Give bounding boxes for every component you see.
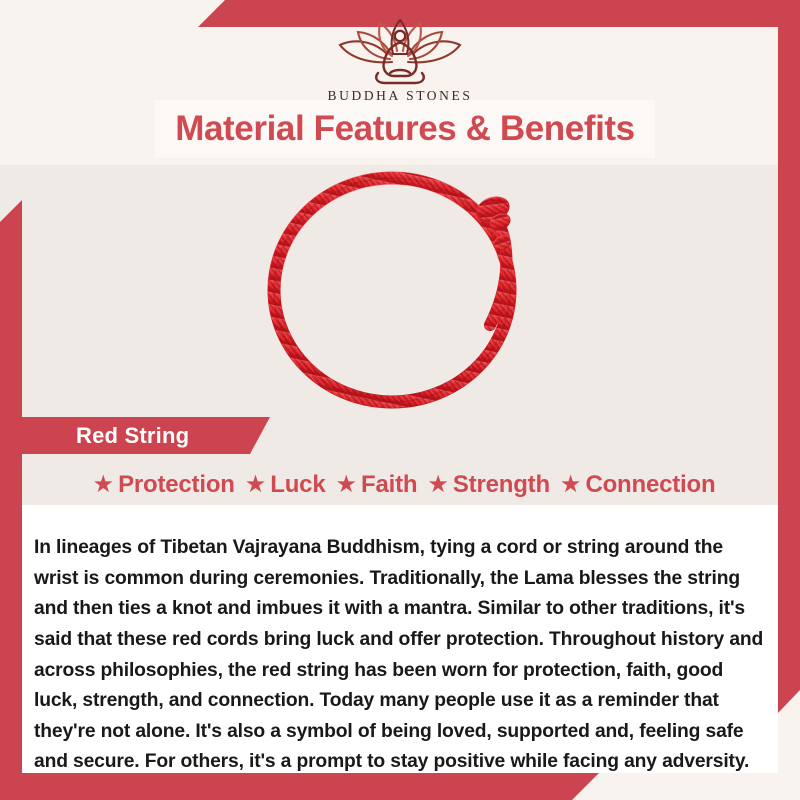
product-image-stage: [0, 165, 800, 415]
material-name-label: Red String: [76, 423, 189, 449]
star-icon: ★: [93, 473, 115, 497]
description-panel: In lineages of Tibetan Vajrayana Buddhis…: [22, 505, 778, 773]
feature-label: Luck: [270, 471, 325, 499]
star-icon: ★: [427, 473, 449, 497]
feature-label: Connection: [585, 471, 715, 499]
description-paragraph: In lineages of Tibetan Vajrayana Buddhis…: [34, 533, 764, 778]
material-name-ribbon: Red String: [20, 417, 270, 454]
feature-label: Protection: [118, 471, 235, 499]
lotus-meditation-icon: [330, 14, 470, 86]
infographic-card: BUDDHA STONES Material Features & Benefi…: [0, 0, 800, 800]
page-title: Material Features & Benefits: [175, 109, 635, 149]
star-icon: ★: [245, 473, 267, 497]
feature-list: ★ Protection ★ Luck ★ Faith ★ Strength ★…: [22, 466, 778, 504]
feature-item-strength: ★ Strength: [419, 471, 550, 499]
star-icon: ★: [335, 473, 357, 497]
feature-label: Faith: [361, 471, 417, 499]
feature-item-luck: ★ Luck: [237, 471, 326, 499]
feature-label: Strength: [453, 471, 550, 499]
star-icon: ★: [560, 473, 582, 497]
red-braided-string-bracelet-image: [250, 165, 550, 415]
headline-banner: Material Features & Benefits: [155, 100, 655, 158]
brand-logo: BUDDHA STONES: [0, 14, 800, 104]
feature-item-protection: ★ Protection: [85, 471, 235, 499]
feature-item-faith: ★ Faith: [327, 471, 417, 499]
feature-item-connection: ★ Connection: [552, 471, 716, 499]
